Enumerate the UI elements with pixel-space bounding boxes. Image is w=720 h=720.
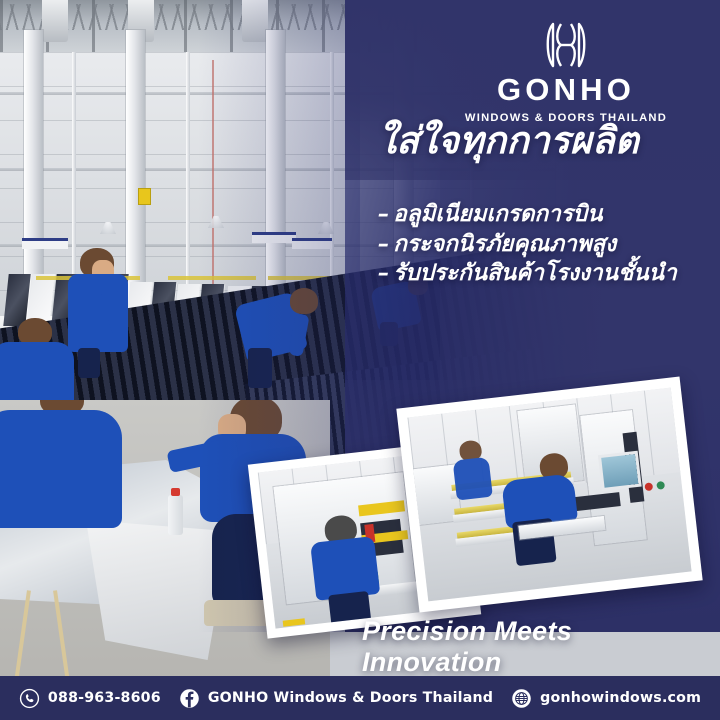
bullet-dash: –: [378, 201, 389, 227]
globe-icon: [511, 688, 532, 709]
headline-thai: ใส่ใจทุกการผลิต: [378, 120, 708, 163]
inset-worker-primary: [498, 447, 587, 555]
bullet-label: กระจกนิรภัยคุณภาพสูง: [393, 231, 616, 257]
brand-logo: GONHO WINDOWS & DOORS THAILAND: [440, 22, 692, 124]
bullet-item: –อลูมิเนียมเกรดการบิน: [378, 200, 708, 230]
inset-worker: [305, 511, 391, 627]
bullet-label: อลูมิเนียมเกรดการบิน: [393, 201, 602, 227]
bullet-dash: –: [378, 260, 389, 286]
feature-bullet-list: –อลูมิเนียมเกรดการบิน –กระจกนิรภัยคุณภาพ…: [378, 200, 708, 289]
gonho-h-monogram-icon: [539, 22, 593, 68]
footer-facebook[interactable]: GONHO Windows & Doors Thailand: [179, 688, 493, 709]
facebook-icon: [179, 688, 200, 709]
bullet-item: –กระจกนิรภัยคุณภาพสูง: [378, 230, 708, 260]
tagline: Precision Meets Innovation: [362, 616, 712, 678]
footer-website-label: gonhowindows.com: [540, 690, 701, 706]
inset-photo-cnc-line: [396, 377, 702, 613]
bullet-dash: –: [378, 231, 389, 257]
footer-phone[interactable]: 088-963-8606: [19, 688, 161, 709]
footer-facebook-label: GONHO Windows & Doors Thailand: [208, 690, 493, 706]
promotional-poster: GONHO WINDOWS & DOORS THAILAND ใส่ใจทุกก…: [0, 0, 720, 720]
footer-phone-label: 088-963-8606: [48, 690, 161, 706]
phone-circle-icon: [19, 688, 40, 709]
bullet-label: รับประกันสินค้าโรงงานชั้นนำ: [393, 260, 676, 286]
contact-footer-bar: 088-963-8606 GONHO Windows & Doors Thail…: [0, 676, 720, 720]
logo-wordmark: GONHO: [440, 74, 692, 105]
bullet-item: –รับประกันสินค้าโรงงานชั้นนำ: [378, 259, 708, 289]
footer-website[interactable]: gonhowindows.com: [511, 688, 701, 709]
inset-worker-secondary: [449, 439, 496, 507]
